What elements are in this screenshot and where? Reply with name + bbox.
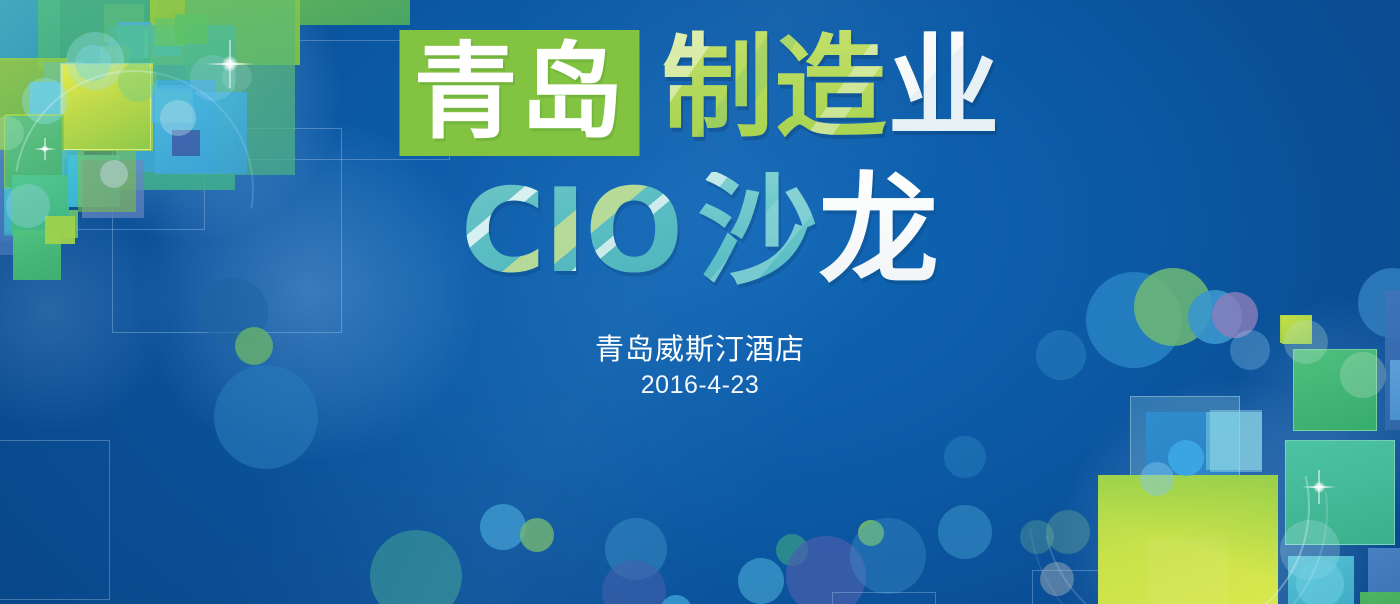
decor-square: [300, 0, 410, 25]
decor-circle: [1284, 320, 1328, 364]
sparkle-icon: [1302, 470, 1336, 504]
decor-circle: [1020, 520, 1054, 554]
decor-circle: [1230, 330, 1270, 370]
salon-label: 沙龙: [697, 172, 939, 292]
outline-rect: [832, 592, 936, 604]
decor-square: [175, 14, 207, 44]
decor-circle: [944, 436, 986, 478]
venue-label: 青岛威斯汀酒店: [595, 326, 805, 368]
decor-circle: [738, 558, 784, 604]
salon-tail-label: 龙: [818, 162, 939, 301]
decor-circle: [370, 530, 462, 604]
decor-circle: [1036, 330, 1086, 380]
title-line-one: 青岛 制造业: [399, 30, 1000, 156]
sparkle-icon: [206, 40, 254, 88]
decor-square: [1390, 360, 1400, 420]
decor-circle: [938, 505, 992, 559]
title-line-two: CIO 沙龙: [461, 172, 940, 292]
decor-circle: [1340, 352, 1386, 398]
date-label: 2016-4-23: [641, 371, 759, 400]
topic-tail-label: 业: [888, 23, 1001, 153]
topic-label: 制造业: [662, 30, 1001, 148]
event-banner: 青岛 制造业 CIO 沙龙 青岛威斯汀酒店 2016-4-23: [0, 0, 1400, 604]
outline-rect: [0, 440, 110, 600]
salon-main-label: 沙: [697, 162, 818, 301]
decor-circle: [480, 504, 526, 550]
decor-square: [1360, 592, 1400, 604]
decor-circle: [850, 518, 926, 594]
decor-circle: [520, 518, 554, 552]
decor-circle: [214, 365, 318, 469]
acronym-label: CIO: [461, 174, 682, 290]
sparkle-icon: [34, 138, 56, 160]
topic-main-label: 制造: [662, 23, 888, 153]
decor-circle: [235, 327, 273, 365]
